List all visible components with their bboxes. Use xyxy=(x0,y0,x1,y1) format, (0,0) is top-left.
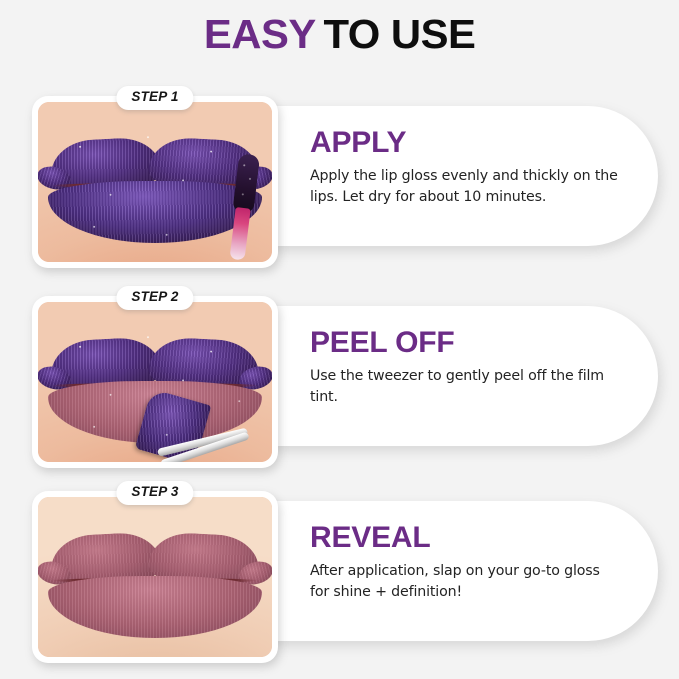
step-row-3: REVEAL After application, slap on your g… xyxy=(0,487,679,673)
page-title-rest: TO USE xyxy=(324,14,476,55)
step-3-heading: REVEAL xyxy=(310,522,640,554)
wand-stem xyxy=(229,207,250,260)
step-2-heading: PEEL OFF xyxy=(310,327,640,359)
step-row-2: PEEL OFF Use the tweezer to gently peel … xyxy=(0,292,679,478)
page-title-highlight: EASY xyxy=(204,14,316,55)
step-3-photo xyxy=(38,497,272,657)
step-2-photo xyxy=(38,302,272,462)
wand-applicator-tip xyxy=(232,153,260,213)
step-2-photo-card: STEP 2 xyxy=(32,296,278,468)
step-2-badge: STEP 2 xyxy=(116,286,193,310)
step-1-photo-card: STEP 1 xyxy=(32,96,278,268)
lips-illustration xyxy=(38,497,272,657)
step-3-badge: STEP 3 xyxy=(116,481,193,505)
lower-lip xyxy=(48,576,262,638)
step-1-photo xyxy=(38,102,272,262)
step-row-1: APPLY Apply the lip gloss evenly and thi… xyxy=(0,92,679,278)
step-1-body: Apply the lip gloss evenly and thickly o… xyxy=(310,166,640,208)
page-title: EASY TO USE xyxy=(0,14,679,55)
step-3-body: After application, slap on your go-to gl… xyxy=(310,561,640,603)
step-1-heading: APPLY xyxy=(310,127,640,159)
step-1-badge: STEP 1 xyxy=(116,86,193,110)
step-3-photo-card: STEP 3 xyxy=(32,491,278,663)
step-2-body: Use the tweezer to gently peel off the f… xyxy=(310,366,640,408)
